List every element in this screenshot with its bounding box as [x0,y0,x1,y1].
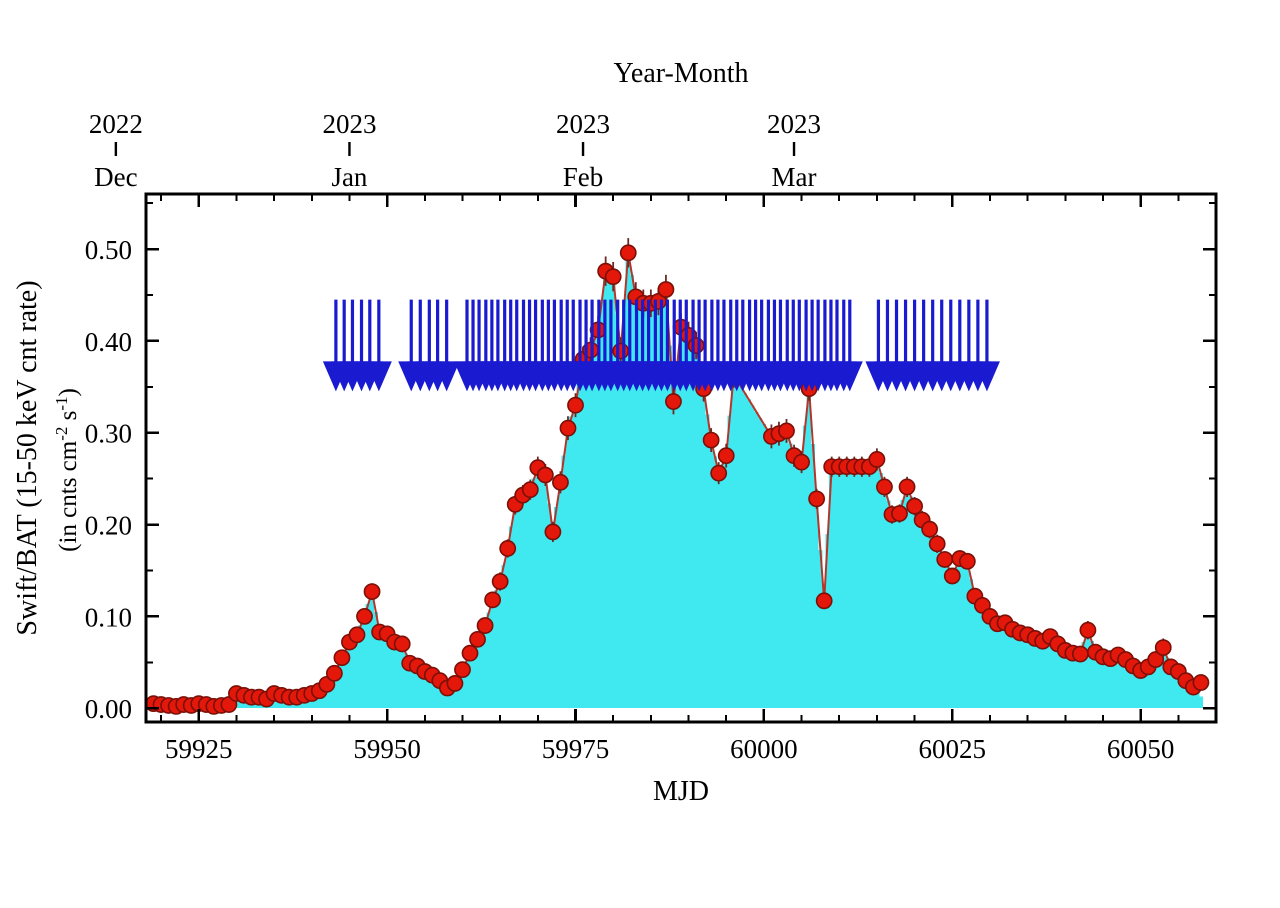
y-tick-label: 0.30 [85,419,132,449]
x-tick-label: 60025 [919,734,987,764]
top-tick-year: 2023 [767,109,821,139]
data-point [817,593,832,608]
data-point [892,506,907,521]
x-tick-label: 59925 [165,734,233,764]
y-tick-label: 0.40 [85,327,132,357]
figure-root: 5992559950599756000060025600500.000.100.… [0,0,1280,908]
data-point [621,245,636,260]
data-point [568,398,583,413]
fill-bar [1198,696,1203,708]
y-unit-sup2: -1 [52,396,71,410]
data-point [485,592,500,607]
data-point [613,343,628,358]
top-tick-year: 2022 [89,109,143,139]
lightcurve-chart: 5992559950599756000060025600500.000.100.… [0,0,1280,908]
data-point [922,522,937,537]
data-point [477,618,492,633]
data-point [553,475,568,490]
data-point [349,627,364,642]
y-unit-mid: s [55,411,82,427]
top-tick-month: Mar [772,162,817,192]
data-point [666,394,681,409]
y-tick-label: 0.20 [85,511,132,541]
data-point [899,479,914,494]
data-point [462,646,477,661]
data-point [688,338,703,353]
y-axis-title-line2: (in cnts cm-2 s-1) [52,388,82,552]
data-point [869,452,884,467]
data-point [545,524,560,539]
y-unit-prefix: (in cnts cm [55,440,82,552]
data-point [493,574,508,589]
x-tick-label: 59975 [542,734,610,764]
top-tick-month: Dec [94,162,137,192]
x-tick-label: 60000 [730,734,798,764]
y-tick-label: 0.50 [85,235,132,265]
data-point [658,282,673,297]
top-tick-month: Feb [563,162,604,192]
y-tick-label: 0.10 [85,602,132,632]
data-point [357,609,372,624]
data-point [704,432,719,447]
y-tick-label: 0.00 [85,694,132,724]
data-point [364,584,379,599]
x-tick-label: 59950 [353,734,421,764]
data-point [470,632,485,647]
data-point [945,568,960,583]
data-point [809,491,824,506]
data-point [794,455,809,470]
data-point [395,636,410,651]
data-point [930,536,945,551]
data-point [455,662,470,677]
data-point [1073,646,1088,661]
data-point [606,269,621,284]
top-axis-title: Year-Month [613,58,748,89]
data-point [907,499,922,514]
data-point [1156,640,1171,655]
data-point [327,666,342,681]
x-axis-title: MJD [653,776,709,807]
data-point [779,423,794,438]
data-point [711,466,726,481]
x-tick-label: 60050 [1107,734,1175,764]
data-point [447,676,462,691]
data-point [1080,623,1095,638]
data-point [960,554,975,569]
top-tick-year: 2023 [322,109,376,139]
data-point [560,421,575,436]
y-axis-title-line1: Swift/BAT (15-50 keV cnt rate) [12,280,43,635]
top-tick-month: Jan [331,162,367,192]
data-point [500,541,515,556]
y-unit-sup1: -2 [52,427,71,441]
data-point [719,448,734,463]
data-point [937,552,952,567]
data-point [877,479,892,494]
y-unit-close: ) [55,388,82,396]
data-point [523,482,538,497]
top-tick-year: 2023 [556,109,610,139]
data-point [1193,675,1208,690]
data-point [538,467,553,482]
data-point [334,650,349,665]
